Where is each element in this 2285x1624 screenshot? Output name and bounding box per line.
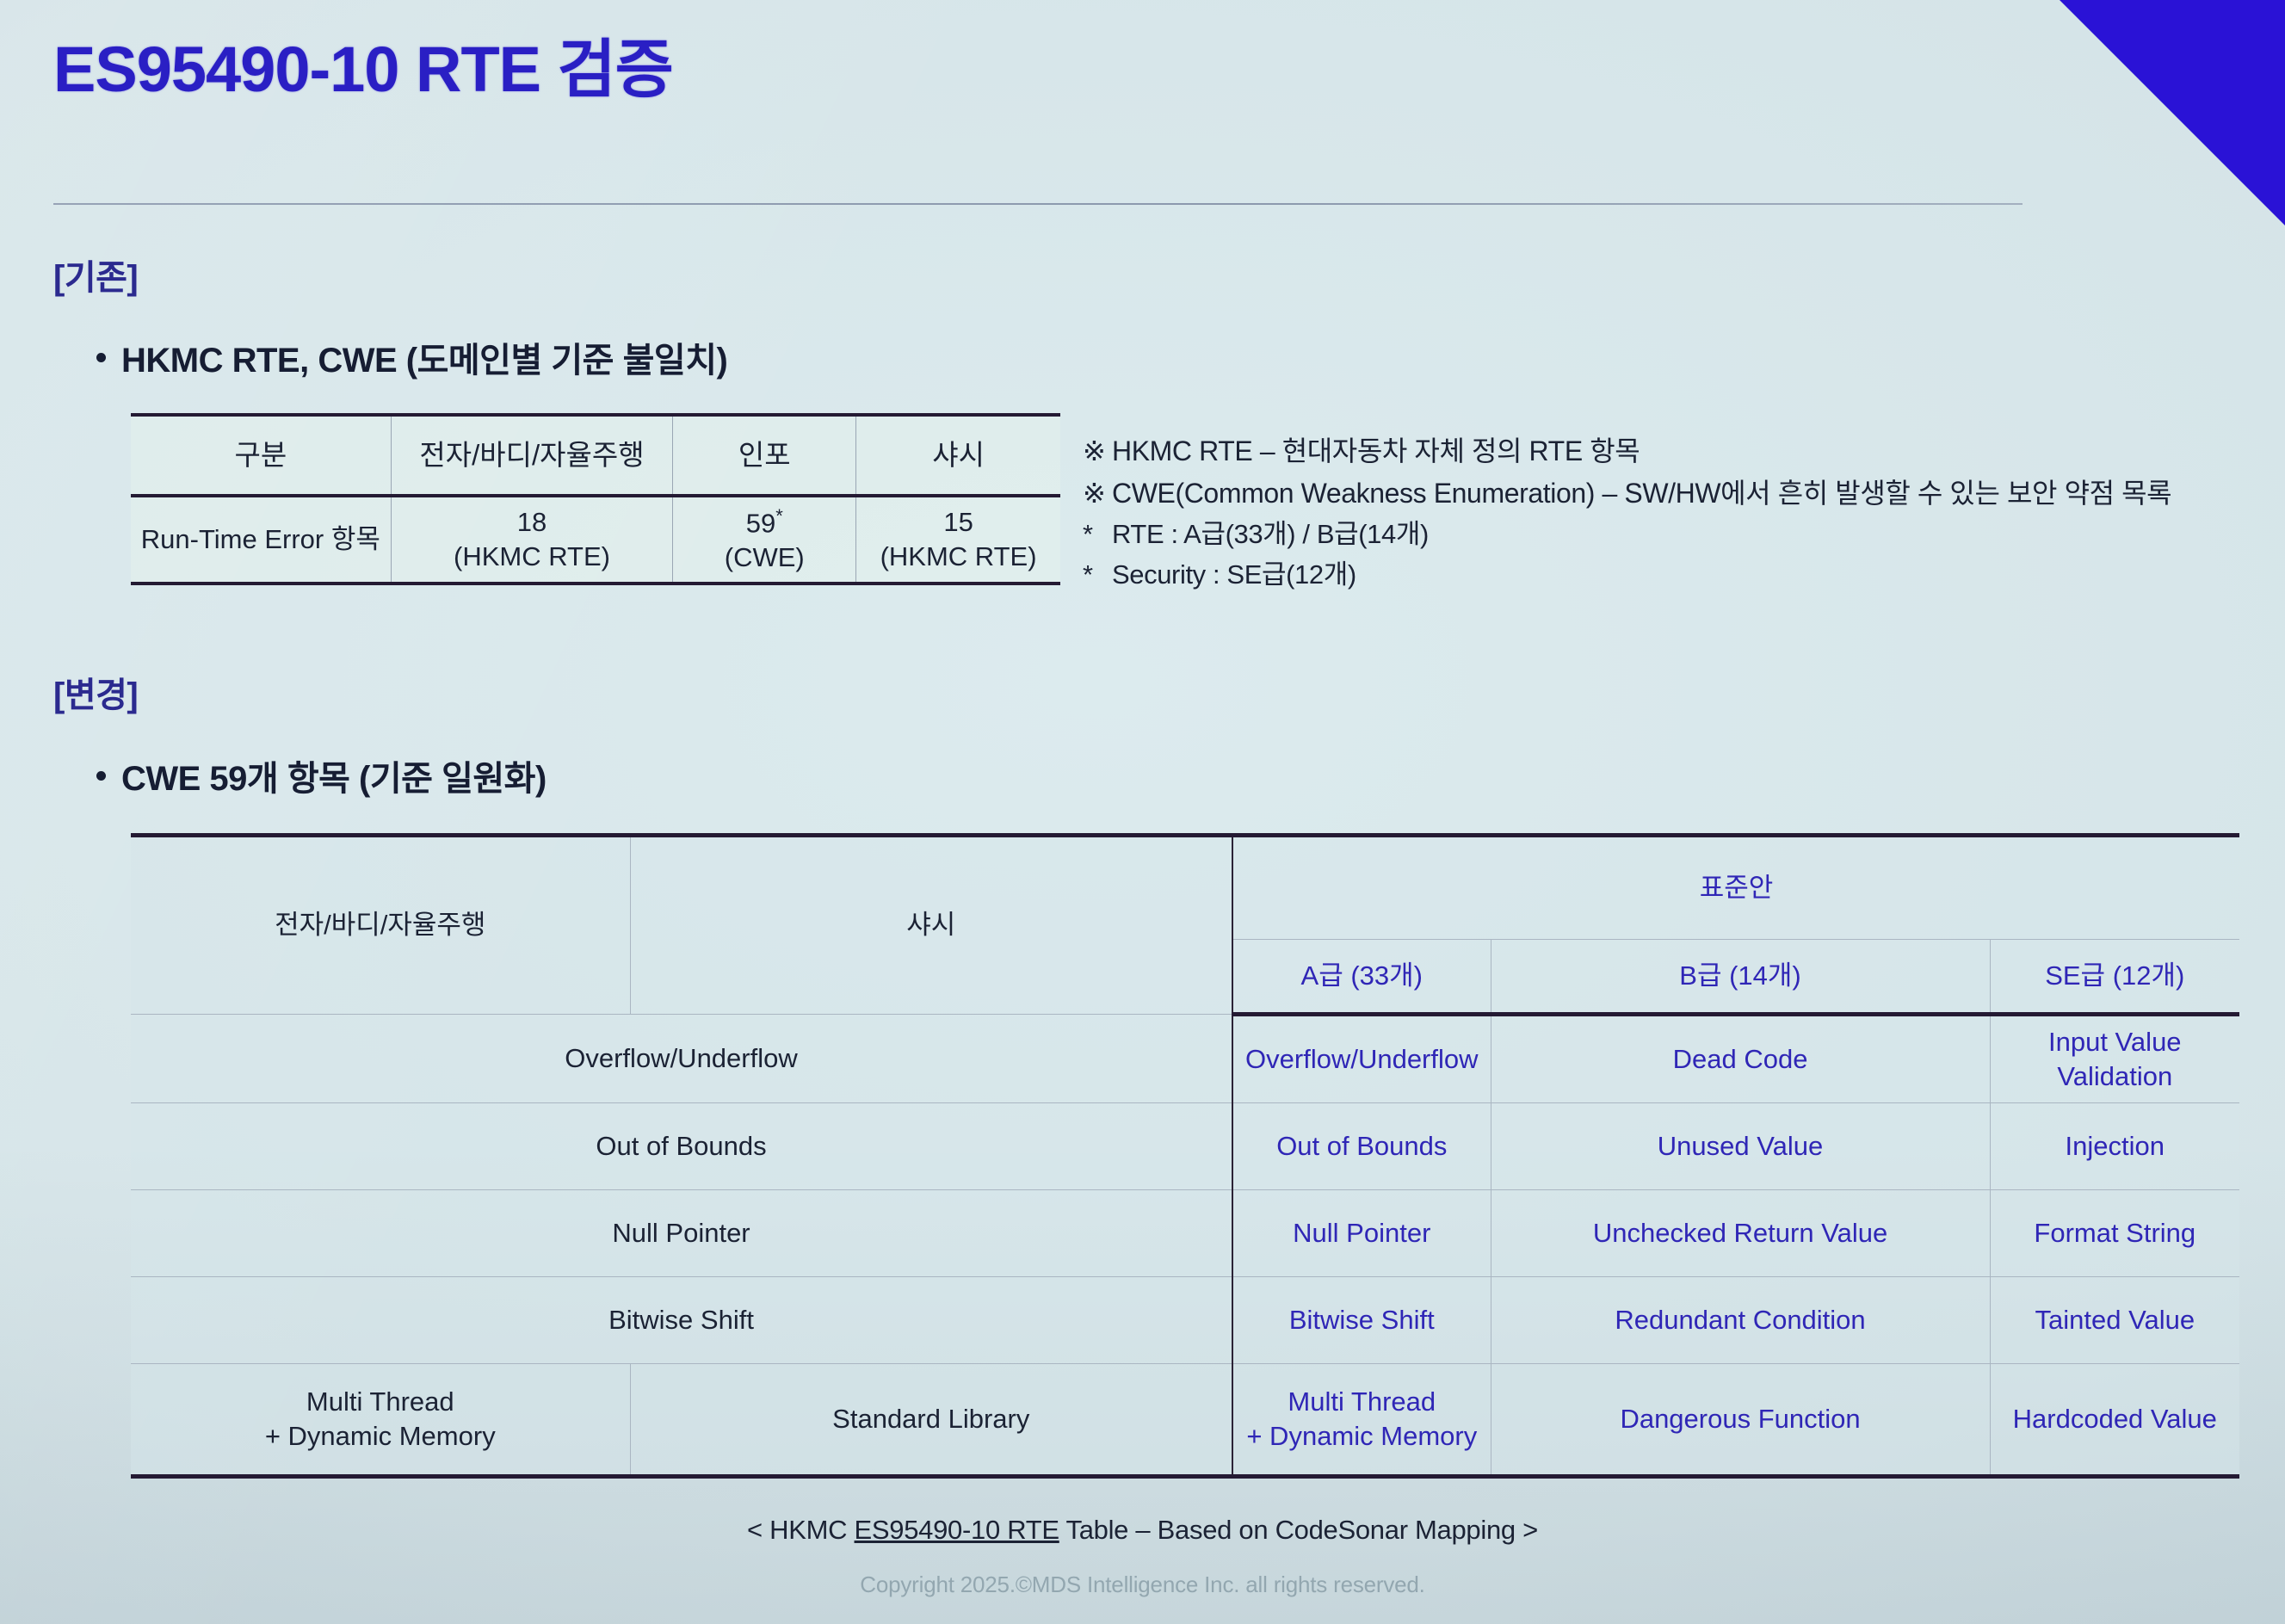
table2-last-col1-line1: Multi Thread	[138, 1385, 623, 1419]
note-text-1: CWE(Common Weakness Enumeration) – SW/HW…	[1112, 478, 2171, 509]
table2-left-merged-2: Null Pointer	[131, 1190, 1232, 1277]
table2-header-grade-b: B급 (14개)	[1491, 940, 1990, 1015]
note-mark-0: ※	[1083, 430, 1112, 472]
table-row: Null Pointer Null Pointer Unchecked Retu…	[131, 1190, 2239, 1277]
note-line-0: ※HKMC RTE – 현대자동차 자체 정의 RTE 항목	[1083, 430, 2171, 472]
bullet-existing-label: HKMC RTE, CWE (도메인별 기준 불일치)	[121, 332, 727, 382]
table2-grade-se-2: Format String	[1990, 1190, 2239, 1277]
table2-last-col1-line2: + Dynamic Memory	[138, 1419, 623, 1454]
table1-value-2: 15	[943, 507, 973, 537]
table-caption: < HKMC ES95490-10 RTE Table – Based on C…	[0, 1515, 2285, 1546]
table2-left-merged-3: Bitwise Shift	[131, 1277, 1232, 1364]
note-line-2: *RTE : A급(33개) / B급(14개)	[1083, 514, 2171, 554]
slide-surface: ES95490-10 RTE 검증 [기존] HKMC RTE, CWE (도메…	[0, 0, 2285, 1624]
table2-header-grade-a: A급 (33개)	[1232, 940, 1491, 1015]
table1-cell-info: 59* (CWE)	[673, 496, 856, 584]
table1-header-2: 인포	[673, 415, 856, 496]
note-text-2: RTE : A급(33개) / B급(14개)	[1112, 519, 1429, 549]
table-row: 전자/바디/자율주행 샤시 표준안	[131, 836, 2239, 940]
copyright-notice: Copyright 2025.©MDS Intelligence Inc. al…	[0, 1572, 2285, 1598]
caption-suffix: Table – Based on CodeSonar Mapping >	[1059, 1515, 1538, 1545]
table2-grade-b-1: Unused Value	[1491, 1103, 1990, 1190]
note-mark-1: ※	[1083, 472, 1112, 515]
table-row: Run-Time Error 항목 18 (HKMC RTE) 59* (CWE…	[131, 496, 1060, 584]
table1-header-3: 샤시	[856, 415, 1060, 496]
bullet-changed: CWE 59개 항목 (기준 일원화)	[96, 750, 547, 800]
table1-header-0: 구분	[131, 415, 391, 496]
table2-last-grade-a-line2: + Dynamic Memory	[1240, 1419, 1484, 1454]
table2-grade-b-0: Dead Code	[1491, 1015, 1990, 1103]
cwe-mapping-table: 전자/바디/자율주행 샤시 표준안 A급 (33개) B급 (14개) SE급 …	[131, 833, 2239, 1479]
notes-block: ※HKMC RTE – 현대자동차 자체 정의 RTE 항목 ※CWE(Comm…	[1083, 430, 2171, 595]
table2-last-col2: Standard Library	[630, 1364, 1232, 1477]
table1-star-1: *	[775, 505, 783, 527]
table-row: Multi Thread + Dynamic Memory Standard L…	[131, 1364, 2239, 1477]
table2-grade-a-3: Bitwise Shift	[1232, 1277, 1491, 1364]
table2-grade-se-3: Tainted Value	[1990, 1277, 2239, 1364]
note-text-0: HKMC RTE – 현대자동차 자체 정의 RTE 항목	[1112, 435, 1640, 466]
bullet-changed-label: CWE 59개 항목 (기준 일원화)	[121, 750, 547, 800]
table1-source-1: (CWE)	[725, 542, 805, 572]
table2-left-merged-0: Overflow/Underflow	[131, 1015, 1232, 1103]
table2-header-grade-se: SE급 (12개)	[1990, 940, 2239, 1015]
table2-grade-se-1: Injection	[1990, 1103, 2239, 1190]
table2-header-col1: 전자/바디/자율주행	[131, 836, 630, 1015]
table1-value-1: 59	[746, 508, 775, 538]
note-line-3: *Security : SE급(12개)	[1083, 554, 2171, 595]
note-mark-2: *	[1083, 514, 1112, 554]
note-line-1: ※CWE(Common Weakness Enumeration) – SW/H…	[1083, 472, 2171, 515]
bullet-dot-icon	[96, 353, 106, 362]
table1-value-0: 18	[517, 507, 547, 537]
section-label-changed: [변경]	[53, 667, 138, 717]
table2-header-col2: 샤시	[630, 836, 1232, 1015]
bullet-dot-icon	[96, 771, 106, 781]
table2-last-grade-b: Dangerous Function	[1491, 1364, 1990, 1477]
table2-grade-b-3: Redundant Condition	[1491, 1277, 1990, 1364]
table2-grade-a-1: Out of Bounds	[1232, 1103, 1491, 1190]
table1-source-2: (HKMC RTE)	[880, 541, 1037, 571]
note-mark-3: *	[1083, 554, 1112, 595]
note-text-3: Security : SE급(12개)	[1112, 559, 1356, 590]
table2-last-grade-a-line1: Multi Thread	[1240, 1385, 1484, 1419]
table-row: Bitwise Shift Bitwise Shift Redundant Co…	[131, 1277, 2239, 1364]
table2-grade-b-2: Unchecked Return Value	[1491, 1190, 1990, 1277]
table1-cell-electronics: 18 (HKMC RTE)	[391, 496, 673, 584]
caption-prefix: < HKMC	[747, 1515, 855, 1545]
caption-underlined: ES95490-10 RTE	[855, 1515, 1059, 1545]
table1-row-label: Run-Time Error 항목	[131, 496, 391, 584]
table2-last-col1: Multi Thread + Dynamic Memory	[131, 1364, 630, 1477]
table2-group-header: 표준안	[1232, 836, 2239, 940]
table1-source-0: (HKMC RTE)	[454, 541, 610, 571]
table-row: 구분 전자/바디/자율주행 인포 샤시	[131, 415, 1060, 496]
table2-last-grade-a: Multi Thread + Dynamic Memory	[1232, 1364, 1491, 1477]
corner-triangle-decoration	[2060, 0, 2285, 225]
bullet-existing: HKMC RTE, CWE (도메인별 기준 불일치)	[96, 332, 727, 382]
table2-left-merged-1: Out of Bounds	[131, 1103, 1232, 1190]
section-label-existing: [기존]	[53, 250, 138, 299]
table2-grade-a-0: Overflow/Underflow	[1232, 1015, 1491, 1103]
table-row: Overflow/Underflow Overflow/Underflow De…	[131, 1015, 2239, 1103]
table1-header-1: 전자/바디/자율주행	[391, 415, 673, 496]
table2-grade-a-2: Null Pointer	[1232, 1190, 1491, 1277]
page-title: ES95490-10 RTE 검증	[53, 36, 673, 103]
title-divider-rule	[53, 203, 2023, 205]
table-row: Out of Bounds Out of Bounds Unused Value…	[131, 1103, 2239, 1190]
table1-cell-chassis: 15 (HKMC RTE)	[856, 496, 1060, 584]
rte-summary-table: 구분 전자/바디/자율주행 인포 샤시 Run-Time Error 항목 18…	[131, 413, 1060, 585]
table2-last-grade-se: Hardcoded Value	[1990, 1364, 2239, 1477]
table2-grade-se-0: Input Value Validation	[1990, 1015, 2239, 1103]
